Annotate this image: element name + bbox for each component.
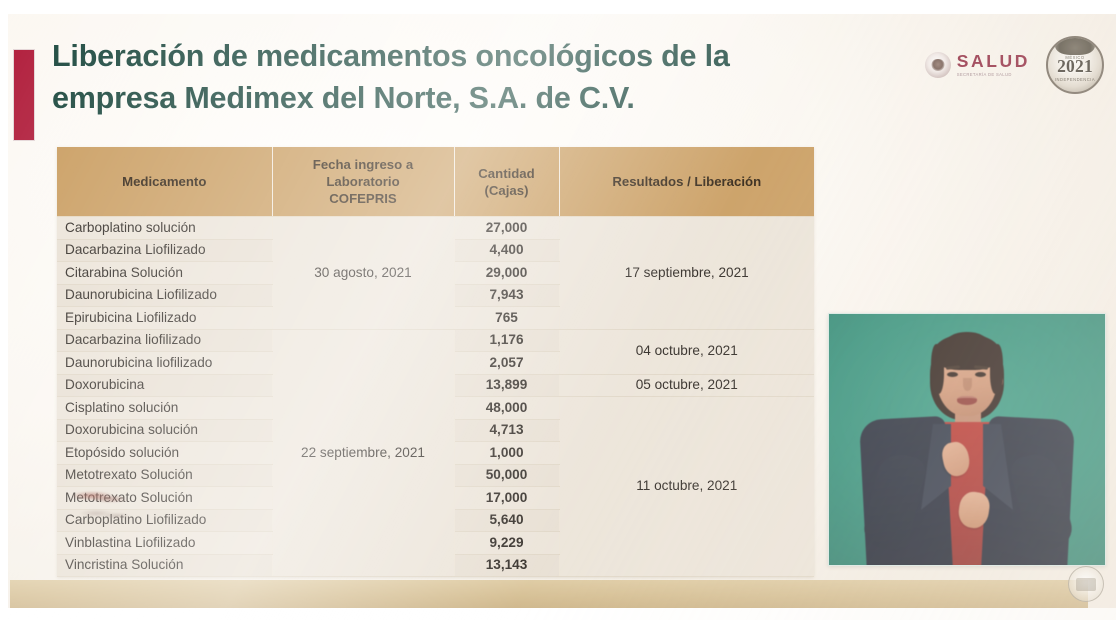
- slide-canvas: Liberación de medicamentos oncológicos d…: [0, 0, 1116, 620]
- interpreter-hair-side-left: [931, 344, 944, 394]
- salud-wordmark: SALUD: [957, 53, 1030, 71]
- cell-medicamento: Doxorubicina: [57, 374, 272, 397]
- medications-table-wrapper: Medicamento Fecha ingreso a Laboratorio …: [57, 147, 814, 577]
- interpreter-mouth: [957, 396, 977, 405]
- cell-medicamento: Carboplatino Liofilizado: [57, 509, 272, 532]
- footer-spacer: [0, 608, 1116, 620]
- cell-cantidad: 765: [454, 307, 559, 330]
- cell-medicamento: Dacarbazina liofilizado: [57, 329, 272, 352]
- medications-table: Medicamento Fecha ingreso a Laboratorio …: [57, 147, 814, 577]
- cell-cantidad: 13,143: [454, 554, 559, 577]
- cell-medicamento: Epirubicina Liofilizado: [57, 307, 272, 330]
- table-body: Carboplatino solución30 agosto, 202127,0…: [57, 217, 814, 577]
- cell-medicamento: Doxorubicina solución: [57, 419, 272, 442]
- cell-cantidad: 4,713: [454, 419, 559, 442]
- table-header: Medicamento Fecha ingreso a Laboratorio …: [57, 147, 814, 217]
- left-white-strip: [0, 0, 8, 620]
- cell-medicamento: Vincristina Solución: [57, 554, 272, 577]
- cell-medicamento: Etopósido solución: [57, 442, 272, 465]
- cell-cantidad: 17,000: [454, 487, 559, 510]
- table-row: Carboplatino solución30 agosto, 202127,0…: [57, 217, 814, 240]
- cell-resultado-liberacion: 05 octubre, 2021: [559, 374, 814, 397]
- cell-cantidad: 9,229: [454, 532, 559, 555]
- cell-cantidad: 50,000: [454, 464, 559, 487]
- cell-medicamento: Metotrexato Solución: [57, 464, 272, 487]
- cell-cantidad: 2,057: [454, 352, 559, 375]
- salud-logo: SALUD SECRETARÍA DE SALUD: [925, 52, 1030, 78]
- cell-medicamento: Carboplatino solución: [57, 217, 272, 240]
- cell-cantidad: 29,000: [454, 262, 559, 285]
- column-header-cantidad: Cantidad (Cajas): [454, 147, 559, 217]
- commemorative-seal-2021: MÉXICO 2021 INDEPENDENCIA: [1046, 36, 1104, 94]
- title-line-2: empresa Medimex del Norte, S.A. de C.V.: [52, 78, 872, 120]
- top-white-strip: [0, 0, 1116, 14]
- column-header-fecha-ingreso: Fecha ingreso a Laboratorio COFEPRIS: [272, 147, 454, 217]
- cell-medicamento: Metotrexato Solución: [57, 487, 272, 510]
- page-title: Liberación de medicamentos oncológicos d…: [52, 36, 872, 120]
- cell-cantidad: 5,640: [454, 509, 559, 532]
- salud-logo-text: SALUD SECRETARÍA DE SALUD: [957, 53, 1030, 77]
- title-accent-bar: [14, 50, 34, 140]
- cell-medicamento: Vinblastina Liofilizado: [57, 532, 272, 555]
- cell-medicamento: Dacarbazina Liofilizado: [57, 239, 272, 262]
- cell-cantidad: 27,000: [454, 217, 559, 240]
- interpreter-hair-side-right: [990, 344, 1003, 394]
- cell-medicamento: Daunorubicina Liofilizado: [57, 284, 272, 307]
- table-row: Dacarbazina liofilizado22 septiembre, 20…: [57, 329, 814, 352]
- interpreter-eye-right: [975, 372, 986, 377]
- cell-cantidad: 7,943: [454, 284, 559, 307]
- corner-badge-inner: [1076, 578, 1096, 591]
- column-header-resultados: Resultados / Liberación: [559, 147, 814, 217]
- sign-language-interpreter-video: [828, 313, 1106, 566]
- cell-medicamento: Cisplatino solución: [57, 397, 272, 420]
- corner-watermark-badge: [1068, 566, 1104, 602]
- title-line-1: Liberación de medicamentos oncológicos d…: [52, 36, 872, 78]
- footer-bar: [10, 580, 1088, 608]
- cell-cantidad: 1,176: [454, 329, 559, 352]
- seal-year-label: 2021: [1057, 56, 1093, 77]
- mexico-eagle-icon: [925, 52, 951, 78]
- cell-cantidad: 4,400: [454, 239, 559, 262]
- cell-medicamento: Citarabina Solución: [57, 262, 272, 285]
- interpreter-person: [829, 314, 1105, 565]
- cell-medicamento: Daunorubicina liofilizado: [57, 352, 272, 375]
- cell-cantidad: 1,000: [454, 442, 559, 465]
- cell-resultado-liberacion: 04 octubre, 2021: [559, 329, 814, 374]
- seal-bottom-label: INDEPENDENCIA: [1048, 77, 1102, 82]
- table-header-row: Medicamento Fecha ingreso a Laboratorio …: [57, 147, 814, 217]
- cell-resultado-liberacion: 17 septiembre, 2021: [559, 217, 814, 330]
- logo-area: SALUD SECRETARÍA DE SALUD MÉXICO 2021 IN…: [925, 30, 1104, 100]
- cell-fecha-ingreso: 22 septiembre, 2021: [272, 329, 454, 577]
- cell-fecha-ingreso: 30 agosto, 2021: [272, 217, 454, 330]
- cell-cantidad: 48,000: [454, 397, 559, 420]
- interpreter-nose: [963, 378, 972, 391]
- cell-resultado-liberacion: 11 octubre, 2021: [559, 397, 814, 577]
- column-header-medicamento: Medicamento: [57, 147, 272, 217]
- salud-subtitle: SECRETARÍA DE SALUD: [957, 73, 1030, 77]
- interpreter-eye-left: [947, 372, 958, 377]
- cell-cantidad: 13,899: [454, 374, 559, 397]
